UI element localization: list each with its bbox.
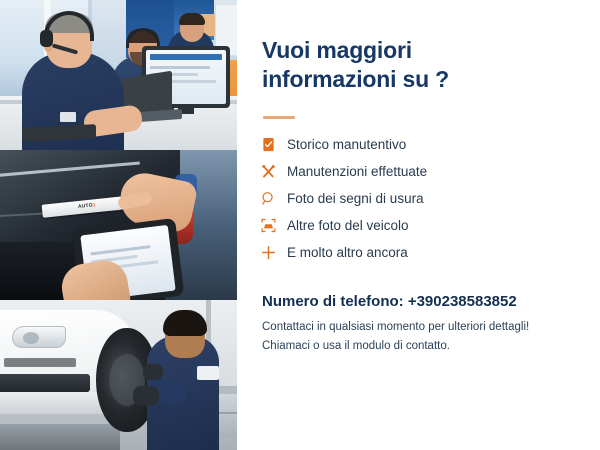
tools-icon (261, 164, 287, 179)
photo-monitor-toolbar (150, 54, 222, 60)
content-panel: Vuoi maggiori informazioni su ? Storico … (237, 0, 600, 450)
list-item-label: Manutenzioni effettuate (287, 164, 427, 179)
workshop-mechanic-photo (0, 300, 237, 450)
call-center-agents-photo (0, 0, 237, 150)
photo-headlight-lens (23, 332, 39, 344)
photo-column: AUTO1 (0, 0, 237, 450)
photo-mechanic-hair (163, 310, 207, 336)
plus-icon (261, 245, 287, 260)
list-item: Storico manutentivo (261, 131, 551, 158)
photo-lift-arm (0, 417, 112, 424)
page-title-line-2: informazioni su ? (262, 65, 492, 94)
photo-agent-1-id-badge (60, 112, 76, 122)
list-item: Manutenzioni effettuate (261, 158, 551, 185)
vehicle-inspection-photo: AUTO1 (0, 150, 237, 300)
contact-note-line-2: Chiamaci o usa il modulo di contatto. (262, 337, 562, 356)
list-item-label: Foto dei segni di usura (287, 191, 424, 206)
photo-lift-platform (0, 422, 120, 450)
list-item: E molto altro ancora (261, 239, 551, 266)
page-title-line-1: Vuoi maggiori (262, 36, 492, 65)
list-item-label: Altre foto del veicolo (287, 218, 409, 233)
photo-monitor-row-1 (150, 66, 210, 69)
magnifier-icon (261, 191, 287, 206)
car-frame-icon (261, 218, 287, 233)
contact-note-line-1: Contattaci in qualsiasi momento per ulte… (262, 318, 562, 337)
checklist-icon (261, 137, 287, 152)
list-item: Foto dei segni di usura (261, 185, 551, 212)
photo-car-grille-upper (4, 358, 76, 367)
photo-mechanic-glove (133, 386, 159, 406)
photo-car-bumper (0, 392, 106, 414)
feature-list: Storico manutentivo Manutenzioni effettu… (261, 131, 551, 266)
phone-number[interactable]: Numero di telefono: +390238583852 (262, 293, 517, 310)
photo-agent-3-hair (179, 13, 205, 25)
photo-car-grille (0, 374, 90, 392)
photo-mechanic-uniform-logo (197, 366, 219, 380)
photo-sticker-logo: AUTO1 (78, 202, 96, 210)
page-title: Vuoi maggiori informazioni su ? (262, 36, 492, 95)
list-item-label: E molto altro ancora (287, 245, 408, 260)
promo-banner: AUTO1 (0, 0, 600, 450)
photo-headlight (12, 326, 66, 348)
photo-agent-1-earcup (40, 30, 53, 47)
list-item-label: Storico manutentivo (287, 137, 406, 152)
contact-note: Contattaci in qualsiasi momento per ulte… (262, 318, 562, 355)
photo-mechanic-glove-2 (143, 364, 163, 380)
title-divider (263, 116, 295, 119)
list-item: Altre foto del veicolo (261, 212, 551, 239)
